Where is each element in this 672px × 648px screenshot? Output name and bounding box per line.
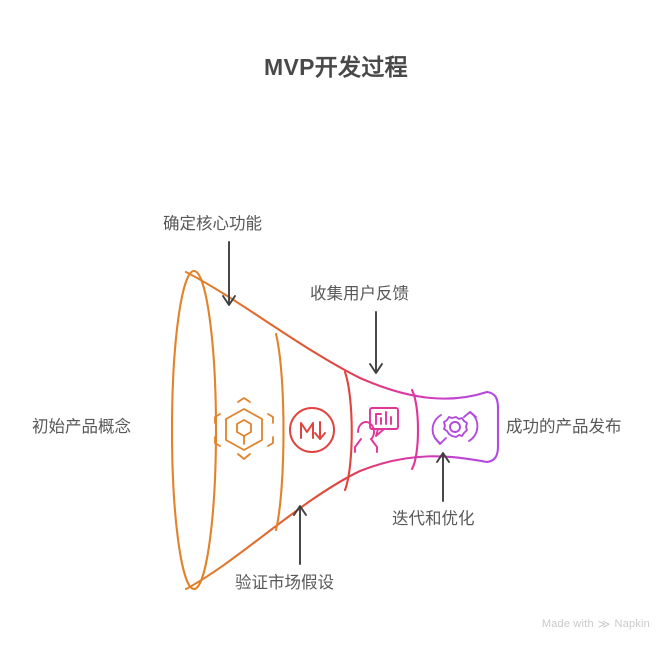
funnel-divider-2 xyxy=(345,372,352,490)
watermark-prefix: Made with xyxy=(542,618,594,630)
funnel-divider-1 xyxy=(276,334,284,530)
mvp-circle-down-arrow-icon xyxy=(290,408,334,452)
funnel-end-label: 成功的产品发布 xyxy=(506,418,622,438)
funnel-diagram xyxy=(0,0,672,648)
stage-1-callout-label: 确定核心功能 xyxy=(163,215,262,235)
gear-refresh-icon xyxy=(433,412,478,444)
stage-2-callout-label: 验证市场假设 xyxy=(235,574,334,594)
funnel-end-cap xyxy=(487,392,498,462)
napkin-watermark: Made with ≫ Napkin xyxy=(542,618,650,630)
funnel-mouth-ellipse xyxy=(172,271,216,589)
stage-3-callout-label: 收集用户反馈 xyxy=(310,285,409,305)
arrow-stage-4 xyxy=(437,453,449,501)
stage-4-callout-label: 迭代和优化 xyxy=(392,510,475,530)
watermark-brand: Napkin xyxy=(615,618,650,630)
funnel-start-label: 初始产品概念 xyxy=(32,418,131,438)
arrow-stage-2 xyxy=(294,506,306,564)
cube-3d-scan-icon xyxy=(215,398,273,459)
user-feedback-chart-bubble-icon xyxy=(355,408,398,452)
arrow-stage-3 xyxy=(370,312,382,373)
napkin-logo-icon: ≫ xyxy=(598,618,611,630)
